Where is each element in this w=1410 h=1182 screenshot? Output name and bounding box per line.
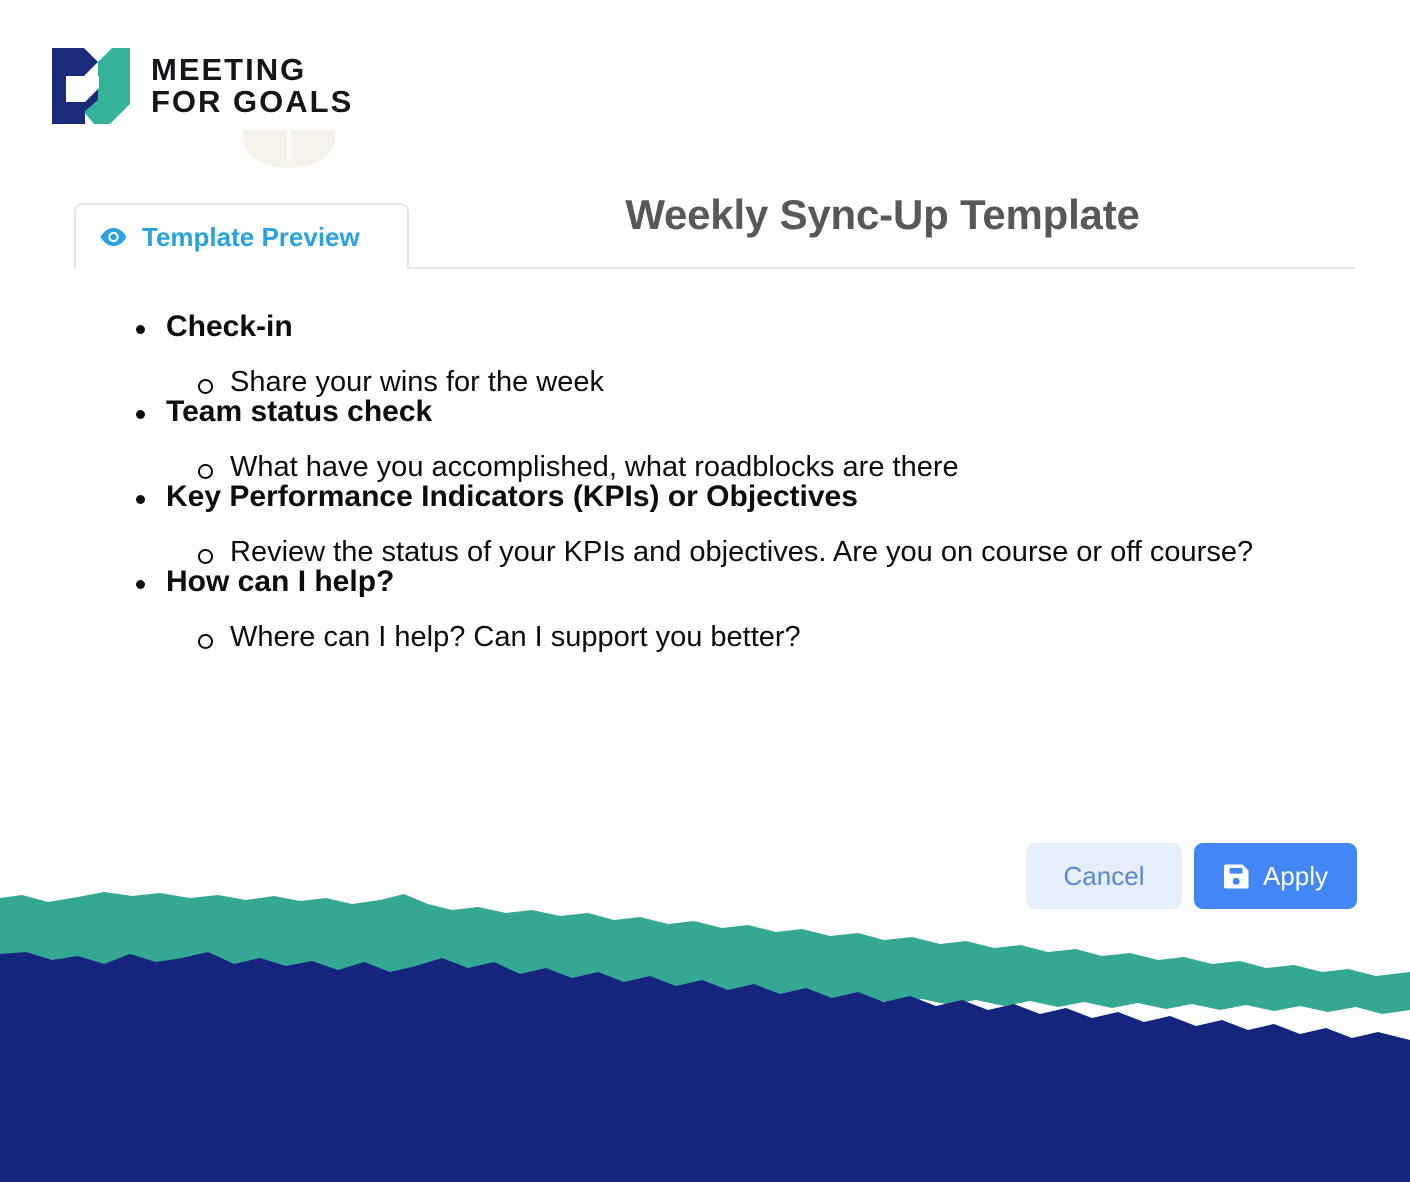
brand-logo: MEETING FOR GOALS xyxy=(48,42,353,130)
agenda-detail: Where can I help? Can I support you bett… xyxy=(120,623,1370,652)
agenda-list: Check-in Share your wins for the week Te… xyxy=(120,312,1370,652)
background-watermark xyxy=(243,130,335,168)
agenda-heading: How can I help? xyxy=(120,567,1370,597)
agenda-detail: Review the status of your KPIs and objec… xyxy=(120,538,1370,567)
agenda-group: How can I help? Where can I help? Can I … xyxy=(120,567,1370,652)
agenda-heading: Team status check xyxy=(120,397,1370,427)
agenda-group: Check-in Share your wins for the week xyxy=(120,312,1370,397)
tab-label: Template Preview xyxy=(142,222,360,253)
template-preview-page: MEETING FOR GOALS Template Preview Weekl… xyxy=(0,0,1410,1182)
agenda-detail: What have you accomplished, what roadblo… xyxy=(120,453,1370,482)
agenda-group: Key Performance Indicators (KPIs) or Obj… xyxy=(120,482,1370,567)
agenda-detail: Share your wins for the week xyxy=(120,368,1370,397)
decorative-wave-graphic xyxy=(0,882,1410,1182)
tab-template-preview[interactable]: Template Preview xyxy=(74,203,409,269)
brand-line-2: FOR GOALS xyxy=(151,86,353,118)
agenda-heading: Check-in xyxy=(120,312,1370,342)
page-title: Weekly Sync-Up Template xyxy=(410,191,1355,239)
brand-line-1: MEETING xyxy=(151,54,353,86)
agenda-heading: Key Performance Indicators (KPIs) or Obj… xyxy=(120,482,1370,512)
eye-icon xyxy=(99,226,128,248)
agenda-group: Team status check What have you accompli… xyxy=(120,397,1370,482)
meeting-for-goals-logo-icon xyxy=(48,42,134,130)
